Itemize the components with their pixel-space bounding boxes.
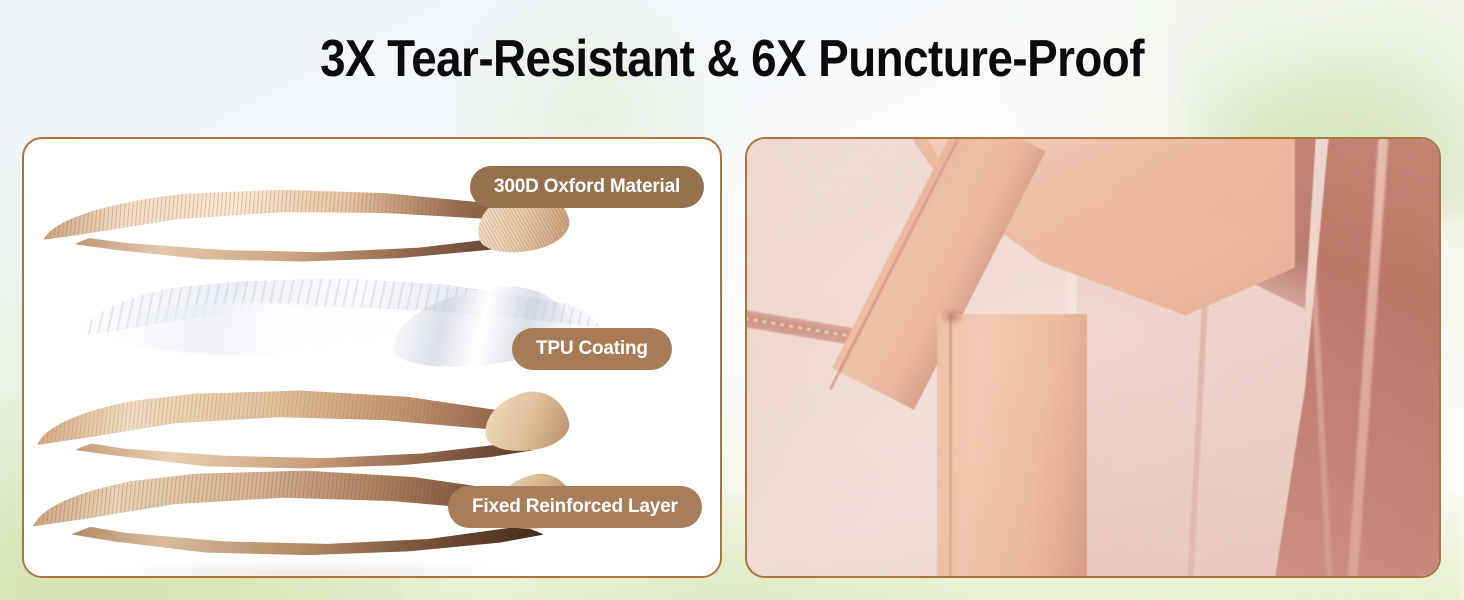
badge-oxford-material: 300D Oxford Material [470, 166, 704, 208]
page-title: 3X Tear-Resistant & 6X Puncture-Proof [88, 33, 1376, 85]
tent-corner-photo-card [745, 137, 1441, 578]
fabric-layers-card: 300D Oxford Material TPU Coating Fixed R… [22, 137, 722, 578]
badge-tpu-coating: TPU Coating [512, 328, 672, 370]
tent-corner-photo [747, 139, 1439, 576]
fabric-layer-tpu-highlight [106, 303, 406, 355]
photo-vignette [747, 139, 1439, 576]
badge-fixed-reinforced-layer: Fixed Reinforced Layer [448, 486, 702, 528]
